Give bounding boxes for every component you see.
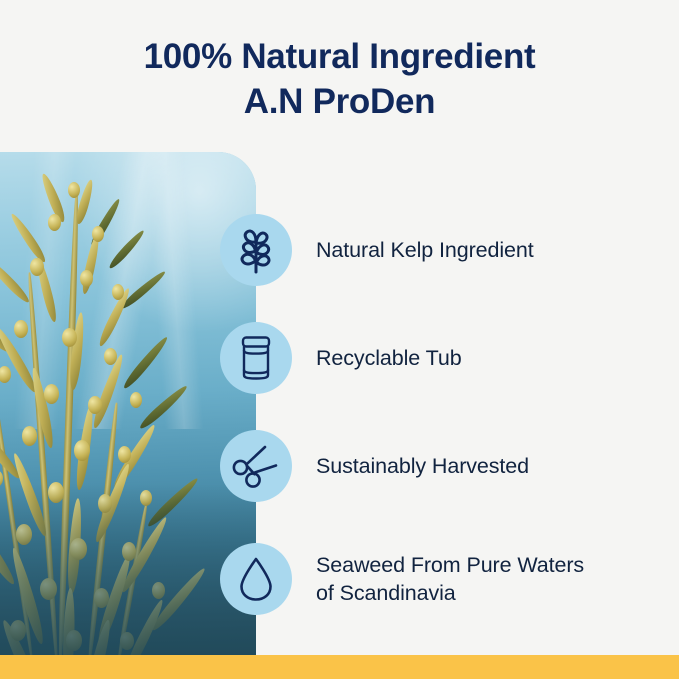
tub-icon-badge — [220, 322, 292, 394]
feature-row-natural-kelp-ingredient: Natural Kelp Ingredient — [220, 214, 534, 286]
water-drop-icon-badge — [220, 543, 292, 615]
page-title-line-2: A.N ProDen — [0, 79, 679, 124]
tub-icon — [236, 334, 276, 382]
feature-row-recyclable-tub: Recyclable Tub — [220, 322, 462, 394]
feature-label: Seaweed From Pure Waters of Scandinavia — [316, 551, 584, 607]
kelp-leaf-icon — [234, 226, 278, 274]
kelp-underwater-photo — [0, 152, 256, 655]
water-drop-icon — [237, 556, 275, 602]
page-title: 100% Natural Ingredient A.N ProDen — [0, 34, 679, 124]
page-title-line-1: 100% Natural Ingredient — [0, 34, 679, 79]
feature-row-pure-waters: Seaweed From Pure Waters of Scandinavia — [220, 543, 584, 615]
scissors-icon-badge — [220, 430, 292, 502]
deep-water-shadow — [0, 484, 256, 655]
feature-label: Natural Kelp Ingredient — [316, 236, 534, 264]
kelp-leaf-icon-badge — [220, 214, 292, 286]
feature-row-sustainably-harvested: Sustainably Harvested — [220, 430, 529, 502]
scissors-icon — [232, 443, 280, 489]
infographic-canvas: 100% Natural Ingredient A.N ProDen — [0, 0, 679, 679]
feature-label: Recyclable Tub — [316, 344, 462, 372]
bottom-accent-bar — [0, 655, 679, 679]
feature-label: Sustainably Harvested — [316, 452, 529, 480]
